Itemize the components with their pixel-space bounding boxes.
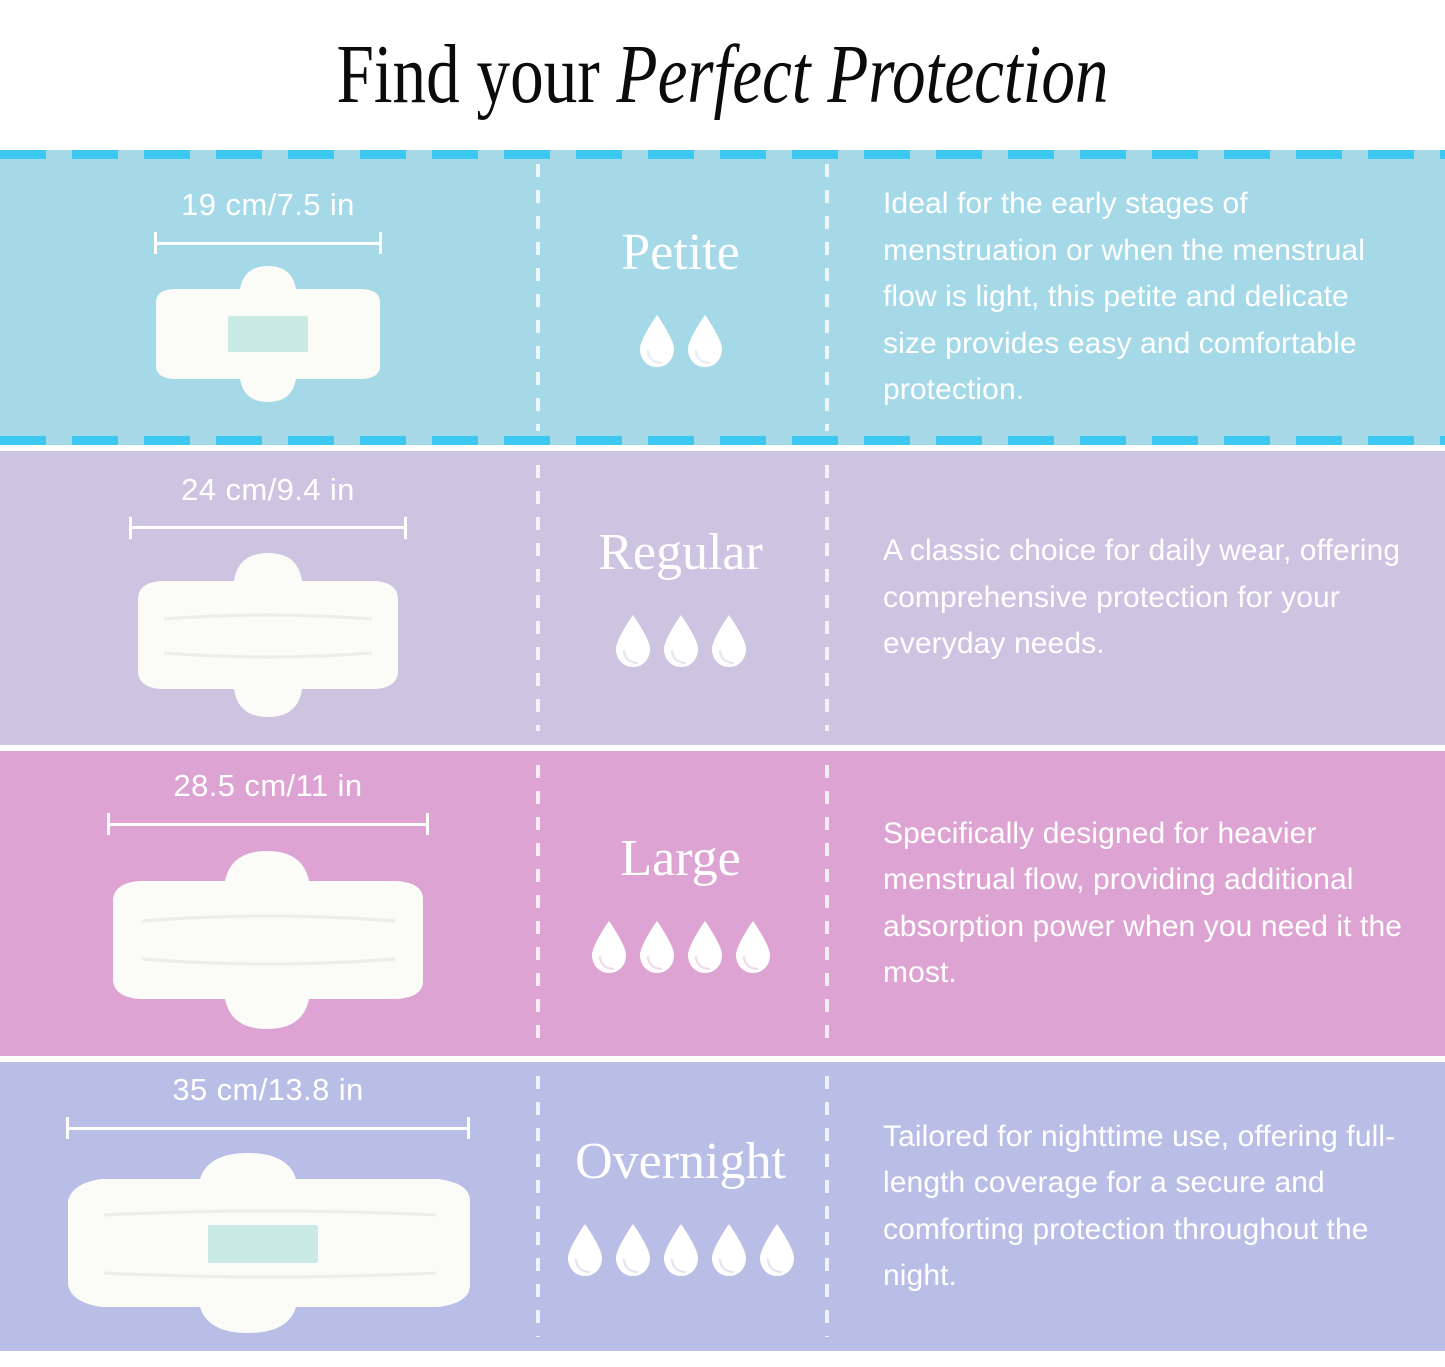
table-row-petite: 19 cm/7.5 in Petite Ideal for the early … bbox=[0, 150, 1445, 445]
measurement-ruler-icon bbox=[66, 1117, 470, 1139]
size-comparison-table: 19 cm/7.5 in Petite Ideal for the early … bbox=[0, 150, 1445, 1351]
droplet-icon bbox=[660, 1222, 702, 1278]
page-header: Find your Perfect Protection bbox=[0, 0, 1445, 150]
column-divider-1 bbox=[536, 1076, 540, 1337]
size-name-cell-regular: Regular bbox=[536, 451, 825, 745]
droplet-icon bbox=[564, 1222, 606, 1278]
size-name-label: Regular bbox=[598, 527, 763, 579]
measurement-label: 28.5 cm/11 in bbox=[173, 768, 362, 804]
column-divider-1 bbox=[536, 164, 540, 431]
pad-visual-cell-regular: 24 cm/9.4 in bbox=[0, 451, 536, 745]
droplet-icon bbox=[684, 313, 726, 369]
droplet-icon bbox=[636, 313, 678, 369]
measurement-ruler-icon bbox=[154, 232, 382, 254]
size-name-cell-petite: Petite bbox=[536, 150, 825, 445]
column-divider-1 bbox=[536, 465, 540, 731]
description-cell-regular: A classic choice for daily wear, offerin… bbox=[825, 451, 1445, 745]
droplet-icon bbox=[612, 1222, 654, 1278]
column-divider-2 bbox=[825, 765, 829, 1042]
size-name-cell-large: Large bbox=[536, 751, 825, 1056]
pad-visual-cell-large: 28.5 cm/11 in bbox=[0, 751, 536, 1056]
description-text: Ideal for the early stages of menstruati… bbox=[883, 181, 1405, 414]
absorbency-droplets-overnight bbox=[564, 1222, 798, 1278]
measurement-label: 19 cm/7.5 in bbox=[181, 187, 355, 223]
measurement-ruler-icon bbox=[107, 813, 429, 835]
column-divider-2 bbox=[825, 465, 829, 731]
size-name-cell-overnight: Overnight bbox=[536, 1062, 825, 1351]
column-divider-2 bbox=[825, 1076, 829, 1337]
measurement-label: 35 cm/13.8 in bbox=[172, 1072, 363, 1108]
pad-visual-cell-overnight: 35 cm/13.8 in bbox=[0, 1062, 536, 1351]
absorbency-droplets-petite bbox=[636, 313, 726, 369]
sanitary-pad-icon-petite bbox=[148, 260, 388, 408]
size-name-label: Overnight bbox=[575, 1136, 786, 1188]
droplet-icon bbox=[732, 919, 774, 975]
description-text: Tailored for nighttime use, offering ful… bbox=[883, 1114, 1405, 1300]
description-cell-overnight: Tailored for nighttime use, offering ful… bbox=[825, 1062, 1445, 1351]
table-row-overnight: 35 cm/13.8 in Overnight bbox=[0, 1062, 1445, 1351]
droplet-icon bbox=[660, 613, 702, 669]
measurement-petite: 19 cm/7.5 in bbox=[0, 187, 536, 254]
page-title-plain: Find your bbox=[336, 28, 616, 121]
droplet-icon bbox=[684, 919, 726, 975]
absorbency-droplets-regular bbox=[612, 613, 750, 669]
column-divider-1 bbox=[536, 765, 540, 1042]
page-title: Find your Perfect Protection bbox=[336, 33, 1108, 117]
droplet-icon bbox=[756, 1222, 798, 1278]
droplet-icon bbox=[708, 613, 750, 669]
sanitary-pad-icon-regular bbox=[130, 545, 406, 725]
description-cell-large: Specifically designed for heavier menstr… bbox=[825, 751, 1445, 1056]
measurement-regular: 24 cm/9.4 in bbox=[0, 472, 536, 539]
sanitary-pad-icon-large bbox=[103, 841, 433, 1039]
table-row-regular: 24 cm/9.4 in Regular A c bbox=[0, 451, 1445, 745]
column-divider-2 bbox=[825, 164, 829, 431]
table-row-large: 28.5 cm/11 in Large bbox=[0, 751, 1445, 1056]
size-name-label: Petite bbox=[621, 227, 739, 279]
description-cell-petite: Ideal for the early stages of menstruati… bbox=[825, 150, 1445, 445]
droplet-icon bbox=[708, 1222, 750, 1278]
droplet-icon bbox=[636, 919, 678, 975]
droplet-icon bbox=[612, 613, 654, 669]
dashed-border-bottom bbox=[0, 436, 1445, 445]
absorbency-droplets-large bbox=[588, 919, 774, 975]
dashed-border-top bbox=[0, 150, 1445, 159]
page-title-emphasis: Perfect Protection bbox=[617, 28, 1109, 121]
description-text: Specifically designed for heavier menstr… bbox=[883, 811, 1405, 997]
measurement-label: 24 cm/9.4 in bbox=[181, 472, 355, 508]
measurement-ruler-icon bbox=[129, 517, 407, 539]
description-text: A classic choice for daily wear, offerin… bbox=[883, 528, 1405, 668]
droplet-icon bbox=[588, 919, 630, 975]
sanitary-pad-icon-overnight bbox=[58, 1145, 478, 1341]
pad-visual-cell-petite: 19 cm/7.5 in bbox=[0, 150, 536, 445]
measurement-overnight: 35 cm/13.8 in bbox=[0, 1072, 536, 1139]
measurement-large: 28.5 cm/11 in bbox=[0, 768, 536, 835]
size-name-label: Large bbox=[620, 833, 740, 885]
